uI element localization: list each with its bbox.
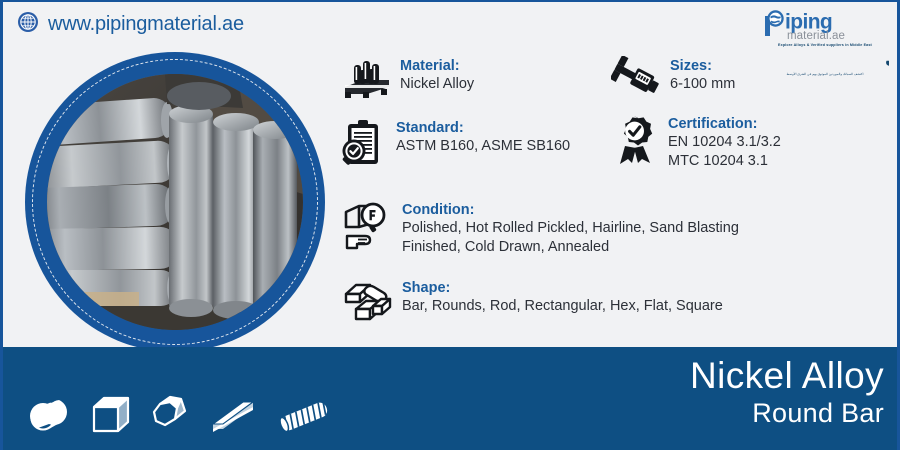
spec-value-sizes: 6-100 mm [670,75,735,94]
shapes-icon [343,278,393,324]
bottom-banner: Nickel Alloy Round Bar [0,347,900,450]
logo-tagline: Explore Alloys & Verified suppliers in M… [760,43,891,47]
logo-wordmark-icon: iping material.ae [761,6,889,42]
spec-value-condition-1: Polished, Hot Rolled Pickled, Hairline, … [402,219,739,238]
spec-label-material: Material: [400,58,460,74]
flat-bar-icon [209,396,257,436]
award-ribbon-icon [611,114,659,166]
spec-value-standard: ASTM B160, ASME SB160 [396,137,570,156]
spec-label-standard: Standard: [396,120,464,136]
spec-text-standard: Standard: ASTM B160, ASME SB160 [396,118,570,156]
square-bar-icon [89,394,131,436]
spec-value-material: Nickel Alloy [400,75,474,94]
banner-heading-group: Nickel Alloy Round Bar [690,355,884,429]
spec-row-material: Material: Nickel Alloy [343,56,474,100]
infographic-card: www.pipingmaterial.ae iping material.ae … [0,0,900,450]
threaded-bar-icon [274,396,334,436]
product-photo [25,52,325,352]
spec-text-certification: Certification: EN 10204 3.1/3.2 MTC 1020… [668,114,781,171]
round-bars-photo-art [47,74,303,330]
spec-text-sizes: Sizes: 6-100 mm [670,56,735,94]
svg-text:material.ae: material.ae [787,30,845,42]
spec-value-certification-2: MTC 10204 3.1 [668,152,781,171]
spec-row-standard: Standard: ASTM B160, ASME SB160 [339,118,570,168]
spec-value-shape: Bar, Rounds, Rod, Rectangular, Hex, Flat… [402,297,723,316]
banner-subtitle: Round Bar [690,397,884,429]
spec-label-sizes: Sizes: [670,58,712,74]
spec-label-certification: Certification: [668,116,757,132]
spec-label-condition: Condition: [402,202,474,218]
spec-row-certification: Certification: EN 10204 3.1/3.2 MTC 1020… [611,114,781,171]
bars-on-pallet-icon [343,56,391,100]
site-url[interactable]: www.pipingmaterial.ae [48,13,244,36]
specifications: Material: Nickel Alloy [339,52,895,342]
spec-text-material: Material: Nickel Alloy [400,56,474,94]
bar-inspection-icon [343,200,393,250]
spec-row-condition: Condition: Polished, Hot Rolled Pickled,… [343,200,739,257]
caliper-icon [611,56,661,100]
spec-text-condition: Condition: Polished, Hot Rolled Pickled,… [402,200,739,257]
spec-text-shape: Shape: Bar, Rounds, Rod, Rectangular, He… [402,278,723,316]
globe-icon [17,11,48,38]
round-bar-icon [26,394,72,436]
spec-label-shape: Shape: [402,280,450,296]
spec-row-sizes: Sizes: 6-100 mm [611,56,735,100]
spec-row-shape: Shape: Bar, Rounds, Rod, Rectangular, He… [343,278,723,324]
photo-image-clip [47,74,303,330]
banner-shape-icons [26,394,334,436]
spec-value-condition-2: Finished, Cold Drawn, Annealed [402,238,739,257]
hex-bar-icon [148,394,192,436]
clipboard-check-icon [339,118,387,168]
spec-value-certification-1: EN 10204 3.1/3.2 [668,133,781,152]
banner-title: Nickel Alloy [690,355,884,397]
